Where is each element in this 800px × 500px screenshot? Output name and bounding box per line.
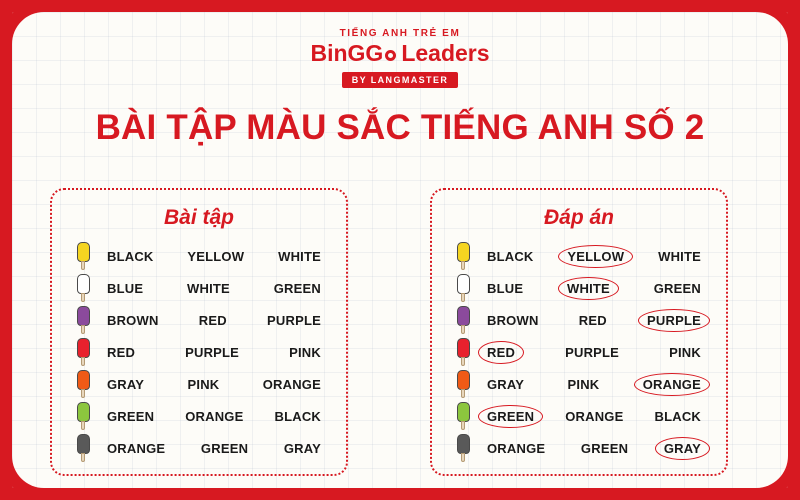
word-option[interactable]: BROWN bbox=[480, 310, 546, 331]
panel-exercise-rows: BLACKYELLOWWHITEBLUEWHITEGREENBROWNREDPU… bbox=[52, 240, 346, 464]
word-option[interactable]: BLACK bbox=[100, 246, 161, 267]
popsicle-cell bbox=[446, 402, 480, 430]
popsicle-icon bbox=[77, 370, 90, 398]
word-option[interactable]: GRAY bbox=[480, 374, 531, 395]
word-options: BLACKYELLOWWHITE bbox=[100, 246, 332, 267]
popsicle-body bbox=[457, 306, 470, 326]
panel-answers: Đáp án BLACKYELLOWWHITEBLUEWHITEGREENBRO… bbox=[430, 188, 728, 476]
popsicle-icon bbox=[77, 242, 90, 270]
word-option[interactable]: ORANGE bbox=[558, 406, 630, 427]
popsicle-body bbox=[457, 434, 470, 454]
word-options: GRAYPINKORANGE bbox=[100, 374, 332, 395]
word-options: REDPURPLEPINK bbox=[480, 342, 712, 363]
word-option[interactable]: RED bbox=[572, 310, 614, 331]
panel-answers-rows: BLACKYELLOWWHITEBLUEWHITEGREENBROWNREDPU… bbox=[432, 240, 726, 464]
word-option-correct[interactable]: WHITE bbox=[560, 278, 617, 299]
word-options: ORANGEGREENGRAY bbox=[100, 438, 332, 459]
popsicle-cell bbox=[66, 274, 100, 302]
word-option[interactable]: BLUE bbox=[100, 278, 150, 299]
word-option[interactable]: BLACK bbox=[268, 406, 329, 427]
panel-exercise-title: Bài tập bbox=[52, 206, 346, 230]
word-options: GREENORANGEBLACK bbox=[480, 406, 712, 427]
word-option[interactable]: BLUE bbox=[480, 278, 530, 299]
popsicle-body bbox=[77, 370, 90, 390]
popsicle-stick bbox=[81, 453, 85, 462]
popsicle-stick bbox=[461, 453, 465, 462]
popsicle-cell bbox=[66, 402, 100, 430]
word-option-correct[interactable]: GREEN bbox=[480, 406, 541, 427]
word-option-correct[interactable]: YELLOW bbox=[560, 246, 631, 267]
popsicle-icon bbox=[77, 274, 90, 302]
word-option[interactable]: PURPLE bbox=[178, 342, 246, 363]
popsicle-cell bbox=[446, 338, 480, 366]
word-option-correct[interactable]: RED bbox=[480, 342, 522, 363]
worksheet-canvas: TIẾNG ANH TRẺ EM BinGG Leaders BY LANGMA… bbox=[12, 12, 788, 488]
popsicle-icon bbox=[457, 274, 470, 302]
word-option-correct[interactable]: PURPLE bbox=[640, 310, 708, 331]
popsicle-stick bbox=[461, 357, 465, 366]
popsicle-icon bbox=[457, 434, 470, 462]
word-option[interactable]: PURPLE bbox=[260, 310, 328, 331]
brand-name: BinGG Leaders bbox=[12, 40, 788, 67]
word-option[interactable]: ORANGE bbox=[256, 374, 328, 395]
word-options: BLACKYELLOWWHITE bbox=[480, 246, 712, 267]
brand-logo: TIẾNG ANH TRẺ EM BinGG Leaders BY LANGMA… bbox=[12, 28, 788, 88]
word-option-correct[interactable]: ORANGE bbox=[636, 374, 708, 395]
word-option[interactable]: GREEN bbox=[574, 438, 635, 459]
word-option[interactable]: GREEN bbox=[267, 278, 328, 299]
word-options: REDPURPLEPINK bbox=[100, 342, 332, 363]
popsicle-cell bbox=[66, 242, 100, 270]
exercise-row: ORANGEGREENGRAY bbox=[66, 432, 332, 464]
exercise-row: ORANGEGREENGRAY bbox=[446, 432, 712, 464]
word-option[interactable]: PINK bbox=[662, 342, 708, 363]
word-option[interactable]: GREEN bbox=[194, 438, 255, 459]
word-option[interactable]: GREEN bbox=[100, 406, 161, 427]
exercise-row: BLUEWHITEGREEN bbox=[446, 272, 712, 304]
popsicle-icon bbox=[77, 338, 90, 366]
brand-dot-icon bbox=[385, 50, 396, 61]
word-option[interactable]: BLACK bbox=[648, 406, 709, 427]
word-option[interactable]: BROWN bbox=[100, 310, 166, 331]
word-option[interactable]: WHITE bbox=[271, 246, 328, 267]
popsicle-icon bbox=[457, 338, 470, 366]
brand-name-secondary: Leaders bbox=[401, 40, 489, 67]
exercise-row: BLACKYELLOWWHITE bbox=[66, 240, 332, 272]
exercise-row: BROWNREDPURPLE bbox=[446, 304, 712, 336]
word-option[interactable]: PINK bbox=[282, 342, 328, 363]
popsicle-stick bbox=[81, 261, 85, 270]
exercise-row: BLUEWHITEGREEN bbox=[66, 272, 332, 304]
popsicle-body bbox=[77, 242, 90, 262]
exercise-row: BROWNREDPURPLE bbox=[66, 304, 332, 336]
word-option[interactable]: RED bbox=[100, 342, 142, 363]
word-option[interactable]: GREEN bbox=[647, 278, 708, 299]
popsicle-icon bbox=[457, 402, 470, 430]
word-option[interactable]: WHITE bbox=[651, 246, 708, 267]
popsicle-body bbox=[77, 306, 90, 326]
popsicle-stick bbox=[81, 389, 85, 398]
exercise-row: REDPURPLEPINK bbox=[66, 336, 332, 368]
word-option[interactable]: GRAY bbox=[100, 374, 151, 395]
popsicle-icon bbox=[457, 370, 470, 398]
popsicle-cell bbox=[66, 370, 100, 398]
brand-tagline: TIẾNG ANH TRẺ EM bbox=[12, 28, 788, 39]
worksheet-page: TIẾNG ANH TRẺ EM BinGG Leaders BY LANGMA… bbox=[0, 0, 800, 500]
popsicle-cell bbox=[66, 338, 100, 366]
popsicle-stick bbox=[461, 421, 465, 430]
word-options: BROWNREDPURPLE bbox=[100, 310, 332, 331]
word-option[interactable]: ORANGE bbox=[480, 438, 552, 459]
popsicle-cell bbox=[446, 274, 480, 302]
popsicle-stick bbox=[461, 293, 465, 302]
popsicle-body bbox=[77, 274, 90, 294]
popsicle-icon bbox=[457, 306, 470, 334]
exercise-row: BLACKYELLOWWHITE bbox=[446, 240, 712, 272]
word-option[interactable]: PURPLE bbox=[558, 342, 626, 363]
word-option[interactable]: PINK bbox=[561, 374, 607, 395]
popsicle-body bbox=[457, 242, 470, 262]
popsicle-cell bbox=[446, 242, 480, 270]
popsicle-icon bbox=[77, 306, 90, 334]
word-option-correct[interactable]: GRAY bbox=[657, 438, 708, 459]
popsicle-stick bbox=[81, 357, 85, 366]
word-option[interactable]: PINK bbox=[181, 374, 227, 395]
popsicle-body bbox=[457, 338, 470, 358]
word-options: BROWNREDPURPLE bbox=[480, 310, 712, 331]
popsicle-stick bbox=[81, 293, 85, 302]
brand-name-primary: BinGG bbox=[310, 40, 383, 67]
exercise-row: GRAYPINKORANGE bbox=[66, 368, 332, 400]
word-option[interactable]: WHITE bbox=[180, 278, 237, 299]
word-option[interactable]: ORANGE bbox=[100, 438, 172, 459]
page-title: BÀI TẬP MÀU SẮC TIẾNG ANH SỐ 2 bbox=[12, 108, 788, 148]
popsicle-body bbox=[77, 338, 90, 358]
popsicle-stick bbox=[81, 325, 85, 334]
popsicle-icon bbox=[457, 242, 470, 270]
popsicle-body bbox=[457, 370, 470, 390]
popsicle-stick bbox=[461, 261, 465, 270]
popsicle-body bbox=[457, 402, 470, 422]
brand-byline: BY LANGMASTER bbox=[342, 72, 459, 88]
word-option[interactable]: RED bbox=[192, 310, 234, 331]
popsicle-icon bbox=[77, 434, 90, 462]
word-options: BLUEWHITEGREEN bbox=[480, 278, 712, 299]
word-option[interactable]: BLACK bbox=[480, 246, 541, 267]
popsicle-cell bbox=[66, 434, 100, 462]
popsicle-stick bbox=[81, 421, 85, 430]
word-options: BLUEWHITEGREEN bbox=[100, 278, 332, 299]
exercise-row: GREENORANGEBLACK bbox=[66, 400, 332, 432]
popsicle-cell bbox=[446, 434, 480, 462]
exercise-row: GRAYPINKORANGE bbox=[446, 368, 712, 400]
popsicle-icon bbox=[77, 402, 90, 430]
popsicle-stick bbox=[461, 389, 465, 398]
panel-exercise: Bài tập BLACKYELLOWWHITEBLUEWHITEGREENBR… bbox=[50, 188, 348, 476]
word-options: GREENORANGEBLACK bbox=[100, 406, 332, 427]
word-option[interactable]: YELLOW bbox=[180, 246, 251, 267]
exercise-row: REDPURPLEPINK bbox=[446, 336, 712, 368]
popsicle-body bbox=[457, 274, 470, 294]
popsicle-cell bbox=[446, 306, 480, 334]
popsicle-cell bbox=[446, 370, 480, 398]
panel-answers-title: Đáp án bbox=[432, 206, 726, 230]
popsicle-stick bbox=[461, 325, 465, 334]
word-option[interactable]: ORANGE bbox=[178, 406, 250, 427]
popsicle-cell bbox=[66, 306, 100, 334]
word-option[interactable]: GRAY bbox=[277, 438, 328, 459]
popsicle-body bbox=[77, 434, 90, 454]
exercise-row: GREENORANGEBLACK bbox=[446, 400, 712, 432]
word-options: GRAYPINKORANGE bbox=[480, 374, 712, 395]
word-options: ORANGEGREENGRAY bbox=[480, 438, 712, 459]
popsicle-body bbox=[77, 402, 90, 422]
